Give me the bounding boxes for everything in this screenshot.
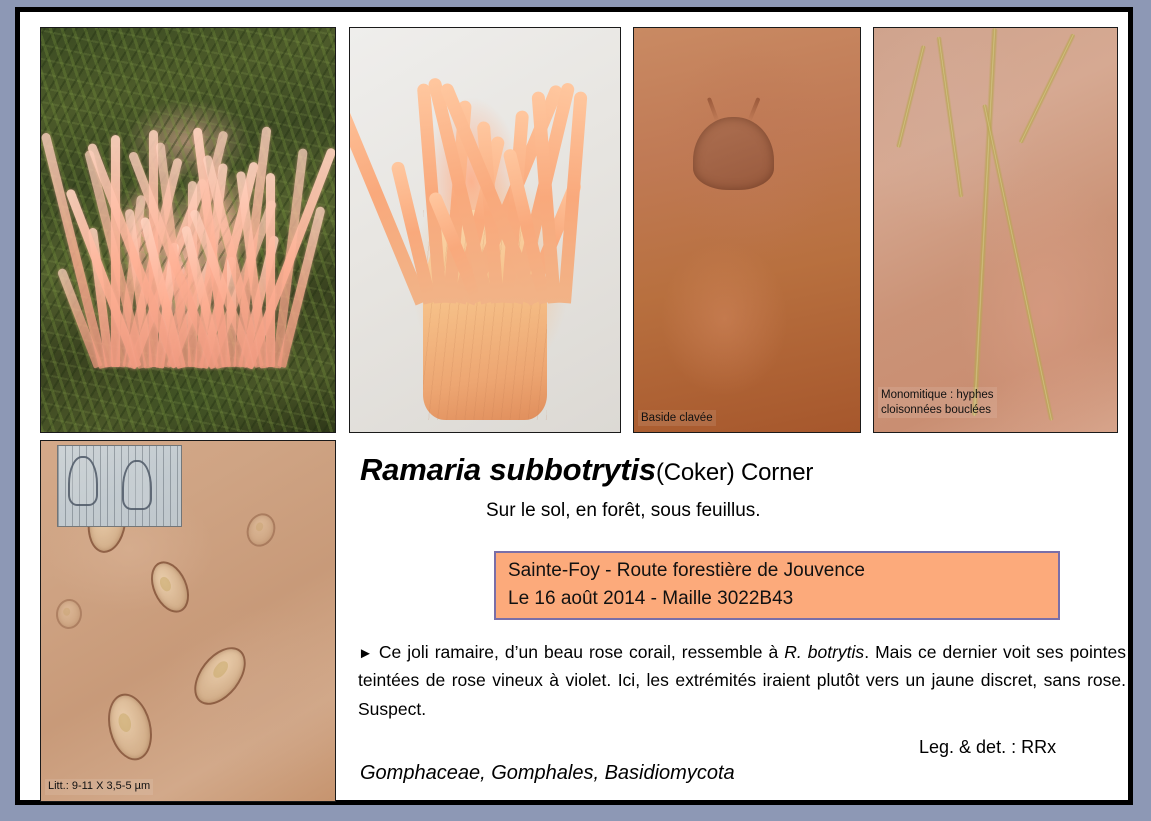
hyphae-caption: Monomitique : hyphes cloisonnées bouclée… xyxy=(878,387,997,418)
species-title: Ramaria subbotrytis(Coker) Corner xyxy=(360,452,813,488)
coral-tip xyxy=(266,173,275,368)
coral-tufts-decoration: 0 xyxy=(94,117,282,367)
basidium-outline xyxy=(68,456,98,506)
spores-photo[interactable]: Litt.: 9-11 X 3,5-5 µm xyxy=(40,440,336,802)
micrometer-inset-image[interactable] xyxy=(57,445,182,527)
species-scientific-name: Ramaria subbotrytis xyxy=(360,452,656,487)
species-authority: (Coker) Corner xyxy=(656,459,813,486)
habitat-photo[interactable]: 0 xyxy=(40,27,336,433)
record-card: 0 Baside clavée Monomitique : hyphes clo… xyxy=(15,7,1133,805)
locality-box: Sainte-Foy - Route forestière de Jouvenc… xyxy=(494,551,1060,620)
bullet-arrow-icon: ► xyxy=(358,645,373,662)
leg-det-text: Leg. & det. : RRx xyxy=(919,737,1056,758)
description-italic-name: R. botrytis xyxy=(784,642,864,662)
fruitbody-branches xyxy=(415,60,566,302)
description-text: ► Ce joli ramaire, d’un beau rose corail… xyxy=(358,638,1126,723)
description-part-1: Ce joli ramaire, d’un beau rose corail, … xyxy=(373,642,784,662)
hyphae-photo[interactable]: Monomitique : hyphes cloisonnées bouclée… xyxy=(873,27,1118,433)
basidia-caption: Baside clavée xyxy=(638,410,716,426)
fruitbody-photo[interactable] xyxy=(349,27,621,433)
habitat-text: Sur le sol, en forêt, sous feuillus. xyxy=(486,500,761,522)
basidium-outline xyxy=(122,460,152,510)
record-text-block: Ramaria subbotrytis(Coker) Corner Sur le… xyxy=(346,440,1136,802)
locality-line-2: Le 16 août 2014 - Maille 3022B43 xyxy=(508,588,793,610)
taxonomy-text: Gomphaceae, Gomphales, Basidiomycota xyxy=(360,762,735,785)
basidia-photo[interactable]: Baside clavée xyxy=(633,27,861,433)
locality-line-1: Sainte-Foy - Route forestière de Jouvenc… xyxy=(508,560,865,582)
spore-size-caption: Litt.: 9-11 X 3,5-5 µm xyxy=(45,779,153,795)
basidia-photo-image xyxy=(634,28,860,432)
